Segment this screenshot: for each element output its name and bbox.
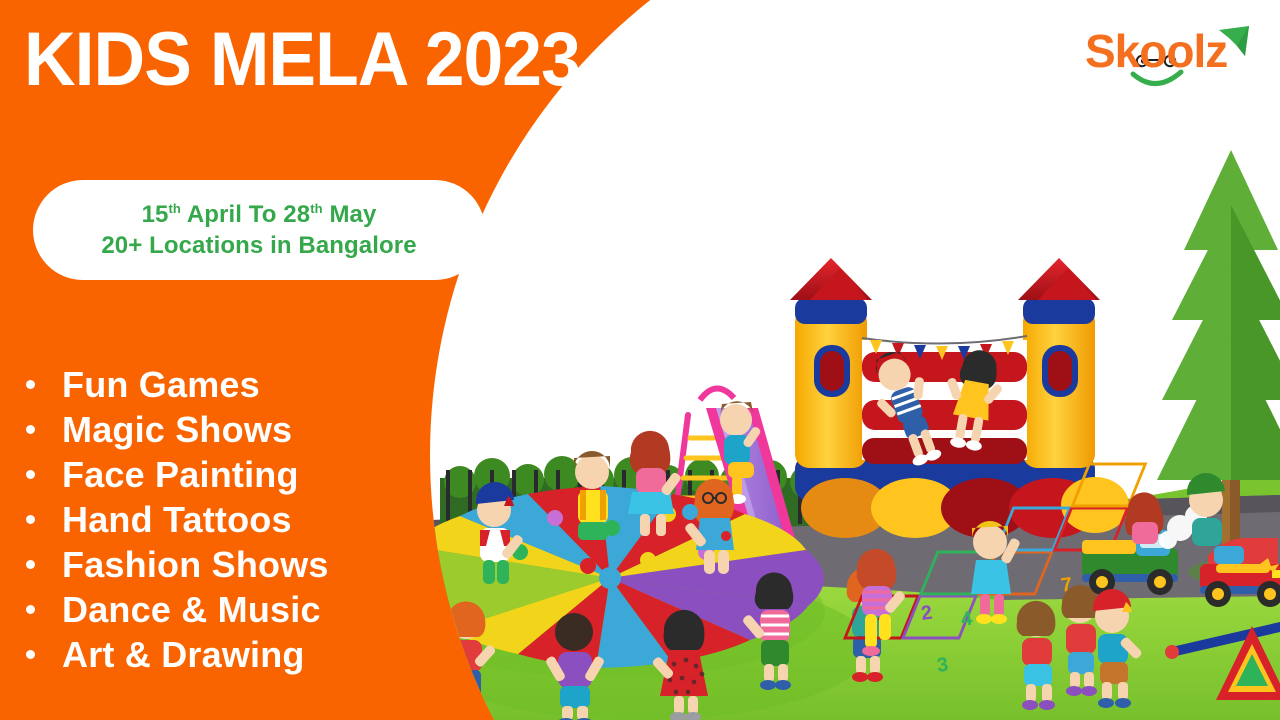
bullet-dot-icon	[26, 650, 35, 659]
date-end-month: May	[323, 201, 377, 228]
bullet-dot-icon	[26, 380, 35, 389]
list-item: Magic Shows	[26, 407, 446, 452]
feature-label: Dance & Music	[62, 587, 321, 632]
list-item: Art & Drawing	[26, 632, 446, 677]
date-start-day: 15	[142, 201, 169, 228]
event-info-pill: 15th April To 28th May 20+ Locations in …	[33, 180, 485, 280]
promo-banner: 1 2 3 4 5 6 7	[0, 0, 1280, 720]
list-item: Fashion Shows	[26, 542, 446, 587]
list-item: Fun Games	[26, 362, 446, 407]
event-locations: 20+ Locations in Bangalore	[101, 230, 416, 261]
logo-wordmark: Skoolz	[1085, 26, 1227, 76]
bullet-dot-icon	[26, 605, 35, 614]
bullet-dot-icon	[26, 515, 35, 524]
event-dates: 15th April To 28th May	[142, 199, 377, 230]
list-item: Hand Tattoos	[26, 497, 446, 542]
feature-label: Fashion Shows	[62, 542, 329, 587]
feature-label: Fun Games	[62, 362, 260, 407]
date-end-suffix: th	[310, 201, 322, 216]
bullet-dot-icon	[26, 470, 35, 479]
feature-label: Magic Shows	[62, 407, 292, 452]
feature-list: Fun Games Magic Shows Face Painting Hand…	[26, 362, 446, 677]
arrow-up-right-icon	[1211, 22, 1257, 62]
date-end-day: 28	[283, 201, 310, 228]
feature-label: Hand Tattoos	[62, 497, 292, 542]
feature-label: Art & Drawing	[62, 632, 305, 677]
brand-logo[interactable]: Skoolz	[1085, 22, 1260, 102]
feature-label: Face Painting	[62, 452, 299, 497]
list-item: Dance & Music	[26, 587, 446, 632]
date-start-suffix: th	[168, 201, 180, 216]
date-middle-text: April To	[181, 201, 283, 228]
list-item: Face Painting	[26, 452, 446, 497]
bullet-dot-icon	[26, 560, 35, 569]
page-title: KIDS MELA 2023	[24, 18, 580, 102]
bullet-dot-icon	[26, 425, 35, 434]
